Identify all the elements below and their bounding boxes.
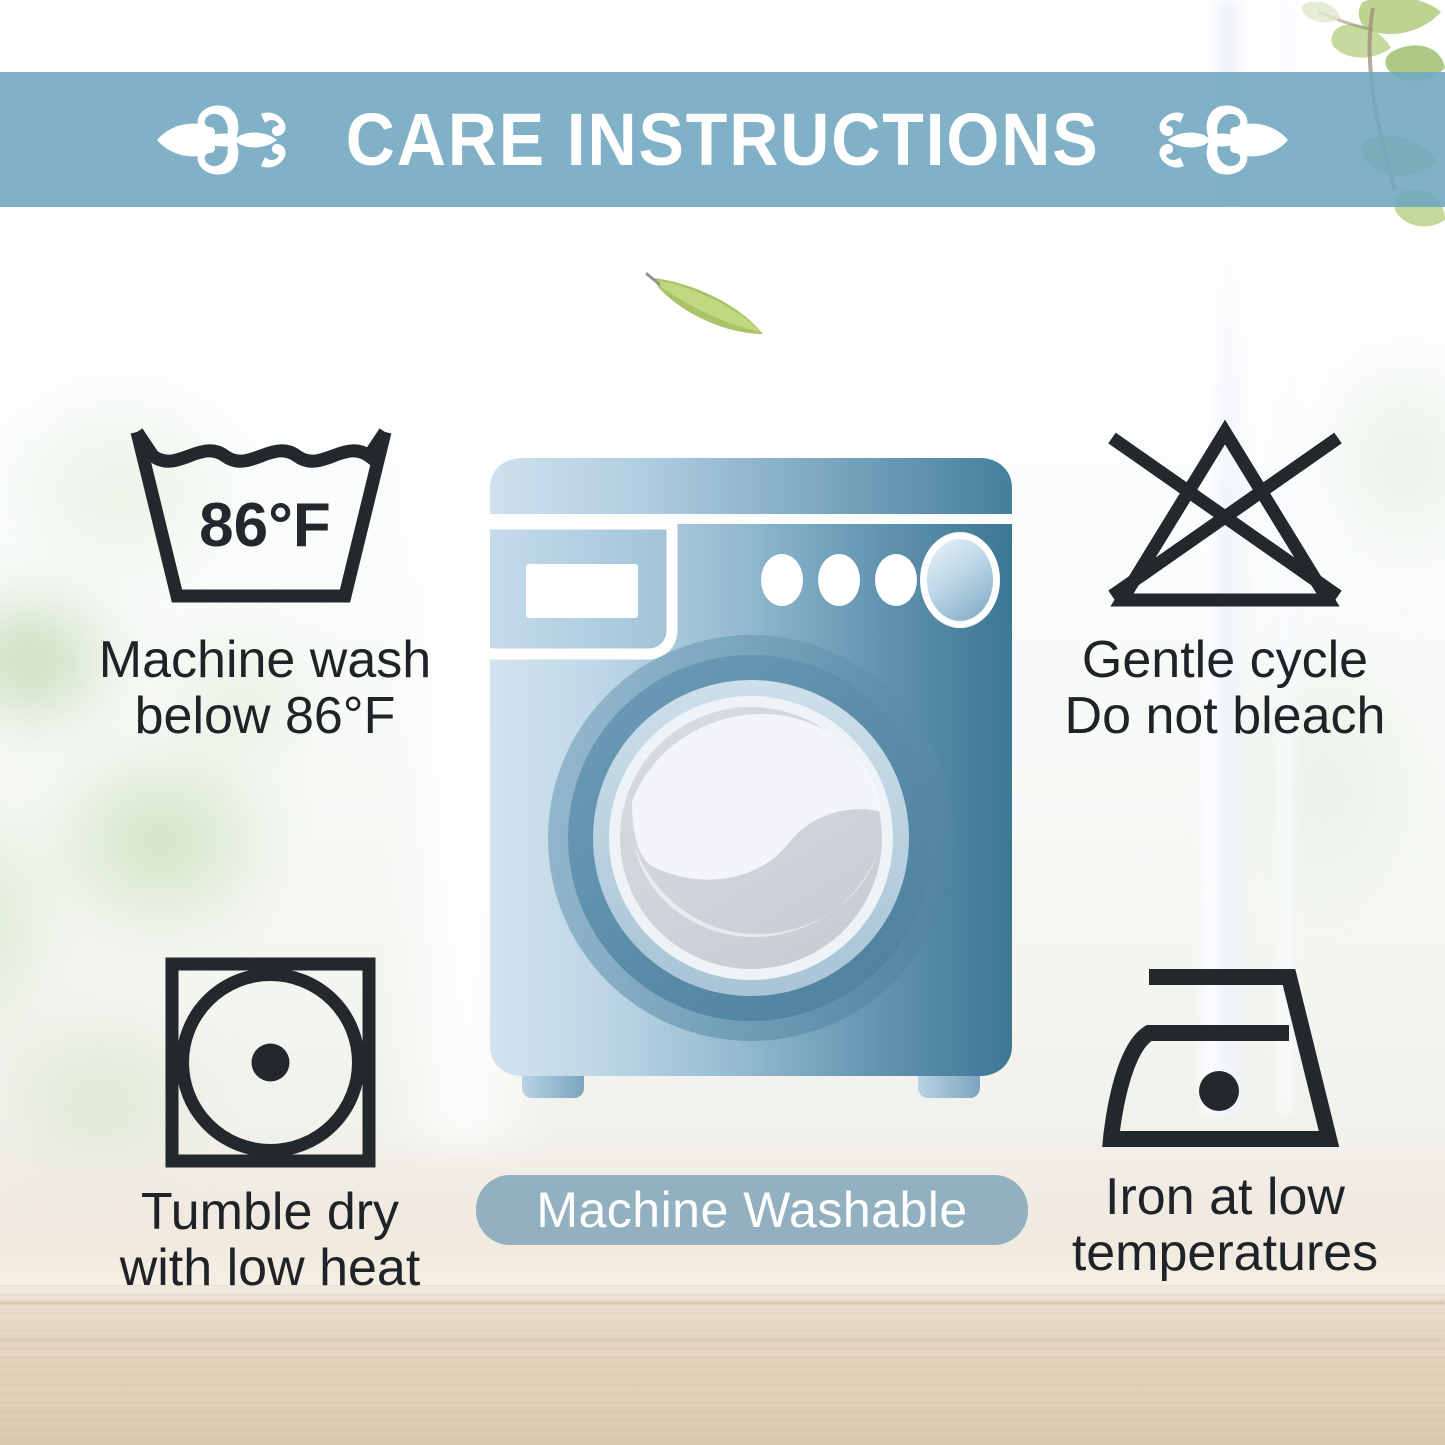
do-not-bleach-triangle-icon [1090, 418, 1360, 618]
care-item-tumble-dry: Tumble dry with low heat [60, 955, 480, 1296]
care-item-caption: Machine wash below 86°F [99, 632, 431, 744]
wood-seam [0, 1301, 1445, 1304]
control-dot [818, 554, 860, 606]
page-title: CARE INSTRUCTIONS [346, 103, 1100, 177]
header-banner: CARE INSTRUCTIONS [0, 72, 1445, 207]
care-item-do-not-bleach: Gentle cycle Do not bleach [1010, 418, 1440, 744]
control-knob [927, 539, 993, 621]
badge-label: Machine Washable [536, 1185, 967, 1235]
wood-grain-texture [0, 1285, 1445, 1445]
fleur-de-lis-icon [155, 92, 287, 188]
washing-machine-illustration [482, 452, 1020, 1122]
drawer-handle [526, 564, 638, 618]
green-leaf-icon [645, 272, 770, 342]
control-dot [761, 554, 803, 606]
iron-low-heat-icon [1093, 955, 1358, 1155]
care-item-iron: Iron at low temperatures [1010, 955, 1440, 1281]
care-item-caption: Iron at low temperatures [1072, 1169, 1378, 1281]
care-item-caption: Tumble dry with low heat [120, 1184, 421, 1296]
wash-tub-icon: 86°F [115, 418, 415, 618]
wood-surface [0, 1285, 1445, 1445]
care-instructions-infographic: CARE INSTRUCTIONS 86°F Machine wash belo… [0, 0, 1445, 1445]
control-dot [875, 554, 917, 606]
washer-top-panel [490, 458, 1012, 514]
fleur-de-lis-icon [1158, 92, 1290, 188]
care-item-caption: Gentle cycle Do not bleach [1065, 632, 1386, 744]
machine-washable-badge: Machine Washable [476, 1175, 1028, 1245]
tumble-dry-low-icon [163, 955, 378, 1170]
wash-temperature-label: 86°F [199, 491, 331, 560]
wood-seam-secondary [0, 1339, 1445, 1341]
care-item-machine-wash: 86°F Machine wash below 86°F [55, 418, 475, 744]
